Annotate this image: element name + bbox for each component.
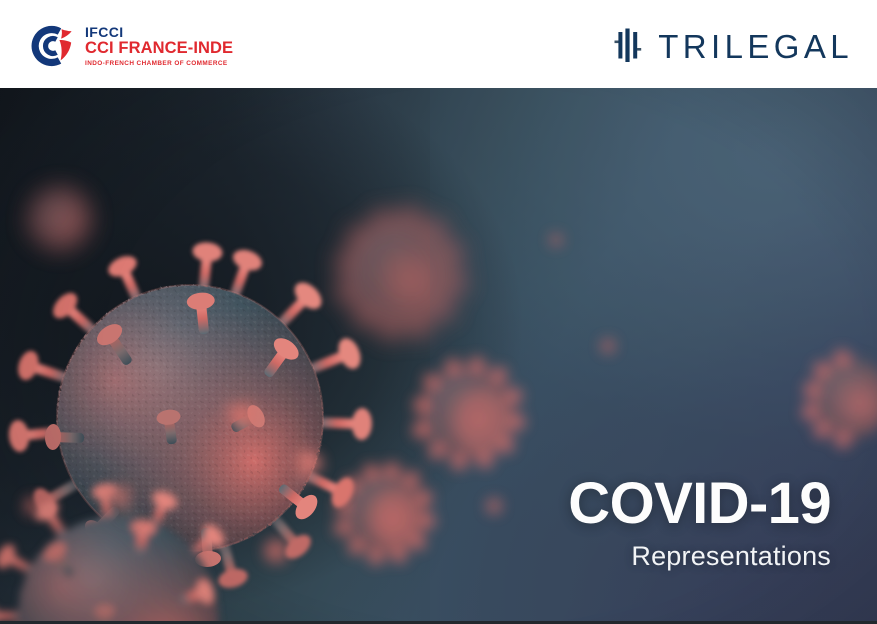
presentation-title-slide: IFCCI CCI FRANCE-INDE INDO-FRENCH CHAMBE… bbox=[0, 0, 877, 624]
page-title: COVID-19 bbox=[568, 475, 831, 533]
trilegal-three-bars-icon bbox=[614, 28, 644, 66]
ifcci-tagline: INDO-FRENCH CHAMBER OF COMMERCE bbox=[85, 59, 233, 69]
title-block: COVID-19 Representations bbox=[568, 475, 831, 572]
trilegal-logo: TRILEGAL bbox=[614, 28, 853, 66]
ifcci-logo-text: IFCCI CCI FRANCE-INDE INDO-FRENCH CHAMBE… bbox=[85, 25, 233, 68]
ifcci-c-mark-icon bbox=[26, 22, 76, 70]
trilegal-wordmark: TRILEGAL bbox=[658, 30, 853, 63]
ifcci-acronym: IFCCI bbox=[85, 25, 233, 40]
ifcci-logo: IFCCI CCI FRANCE-INDE INDO-FRENCH CHAMBE… bbox=[26, 22, 233, 70]
page-subtitle: Representations bbox=[568, 540, 831, 572]
ifcci-name: CCI FRANCE-INDE bbox=[85, 40, 233, 58]
slide-header: IFCCI CCI FRANCE-INDE INDO-FRENCH CHAMBE… bbox=[0, 0, 877, 88]
hero-image: COVID-19 Representations bbox=[0, 88, 877, 624]
